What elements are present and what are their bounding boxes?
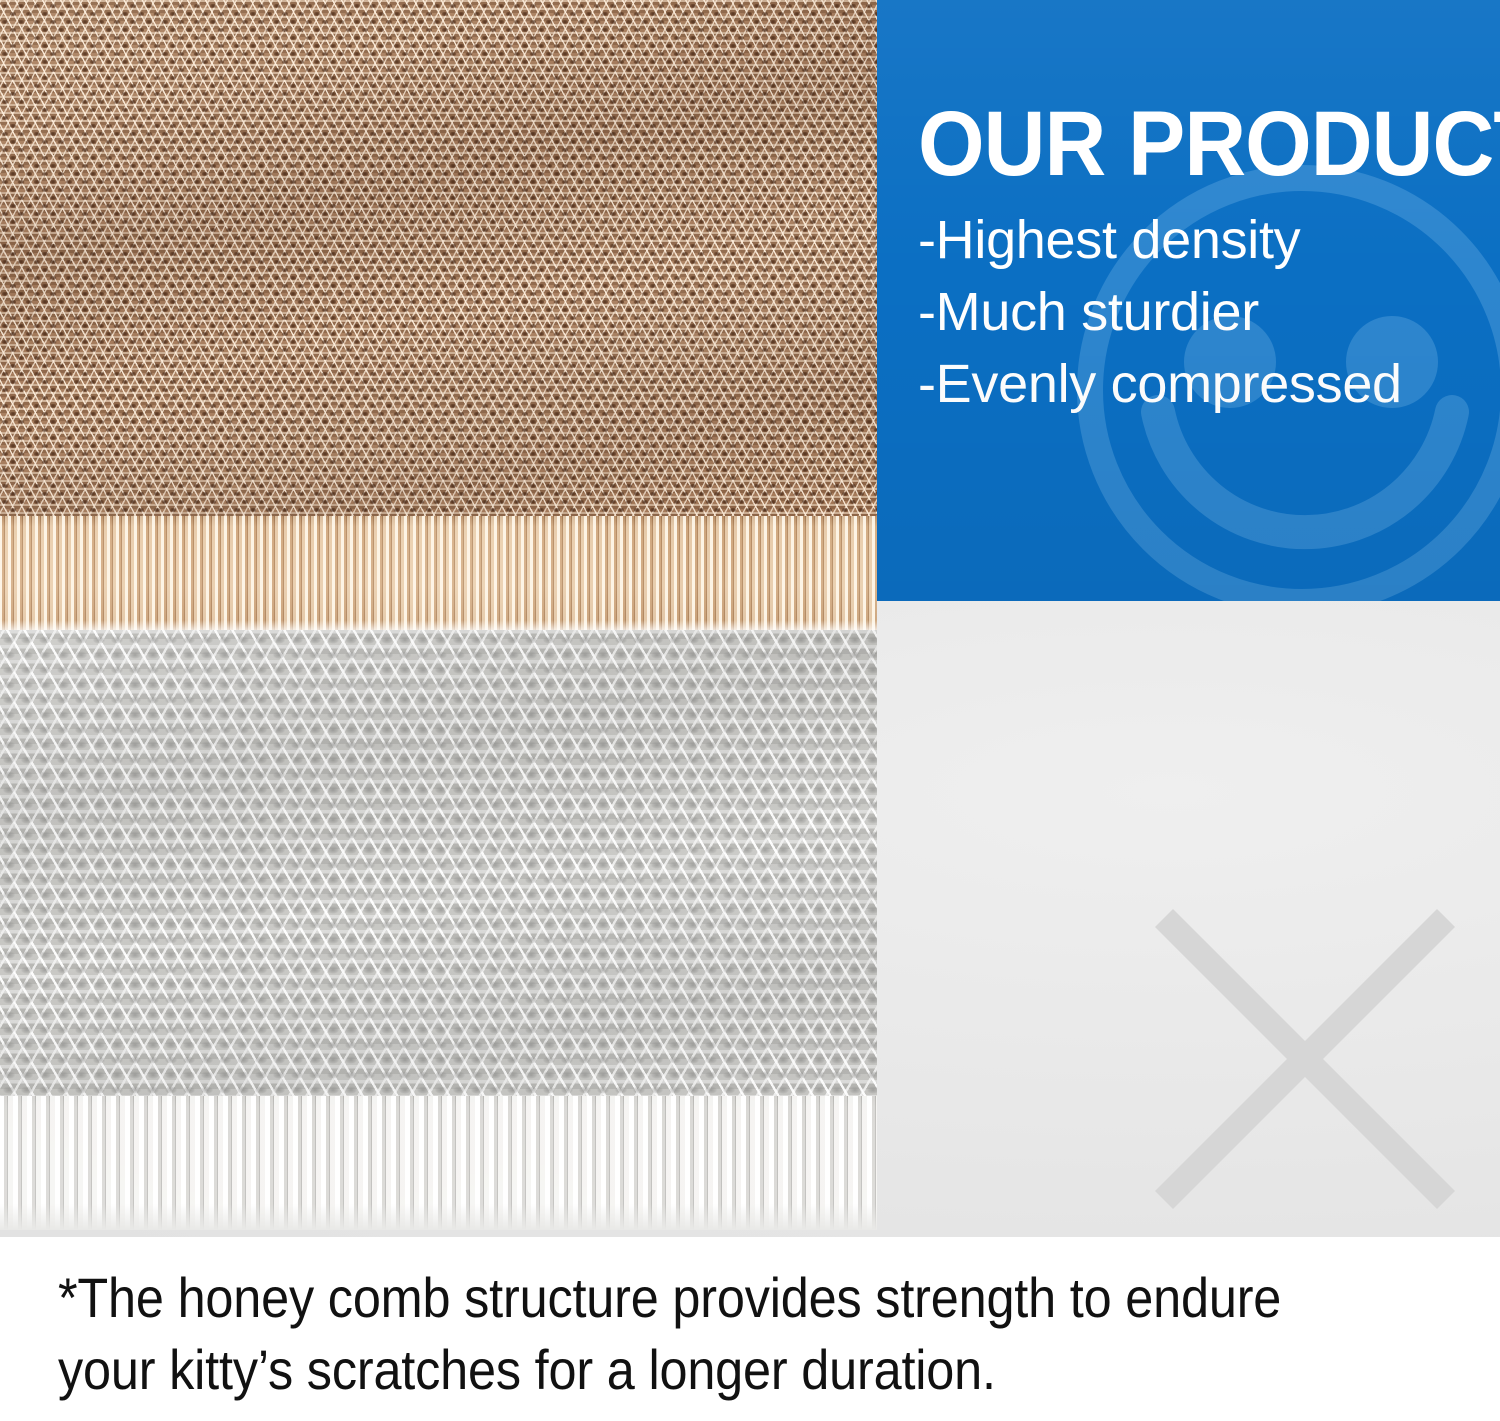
caption-area: *The honey comb structure provides stren… xyxy=(0,1237,1500,1421)
white-honeycomb-board-photo xyxy=(0,630,877,1230)
white-board-cut-edge xyxy=(0,1096,877,1230)
white-honeycomb-surface xyxy=(0,630,877,1100)
caption-text: *The honey comb structure provides stren… xyxy=(58,1262,1318,1406)
list-item: -Much sturdier xyxy=(918,276,1488,348)
list-item: -Evenly compressed xyxy=(918,348,1488,420)
our-product-text-block: OUR PRODUCT -Highest density -Much sturd… xyxy=(918,96,1488,420)
brown-board-cut-edge xyxy=(0,516,877,632)
list-item: -Highest density xyxy=(918,204,1488,276)
x-mark-watermark xyxy=(1155,909,1455,1209)
our-product-bullet-list: -Highest density -Much sturdier -Evenly … xyxy=(918,204,1488,420)
brown-honeycomb-board-photo xyxy=(0,0,877,632)
brown-honeycomb-surface xyxy=(0,0,877,518)
comparison-infographic: OUR PRODUCT -Highest density -Much sturd… xyxy=(0,0,1500,1421)
our-product-title: OUR PRODUCT xyxy=(918,96,1448,192)
